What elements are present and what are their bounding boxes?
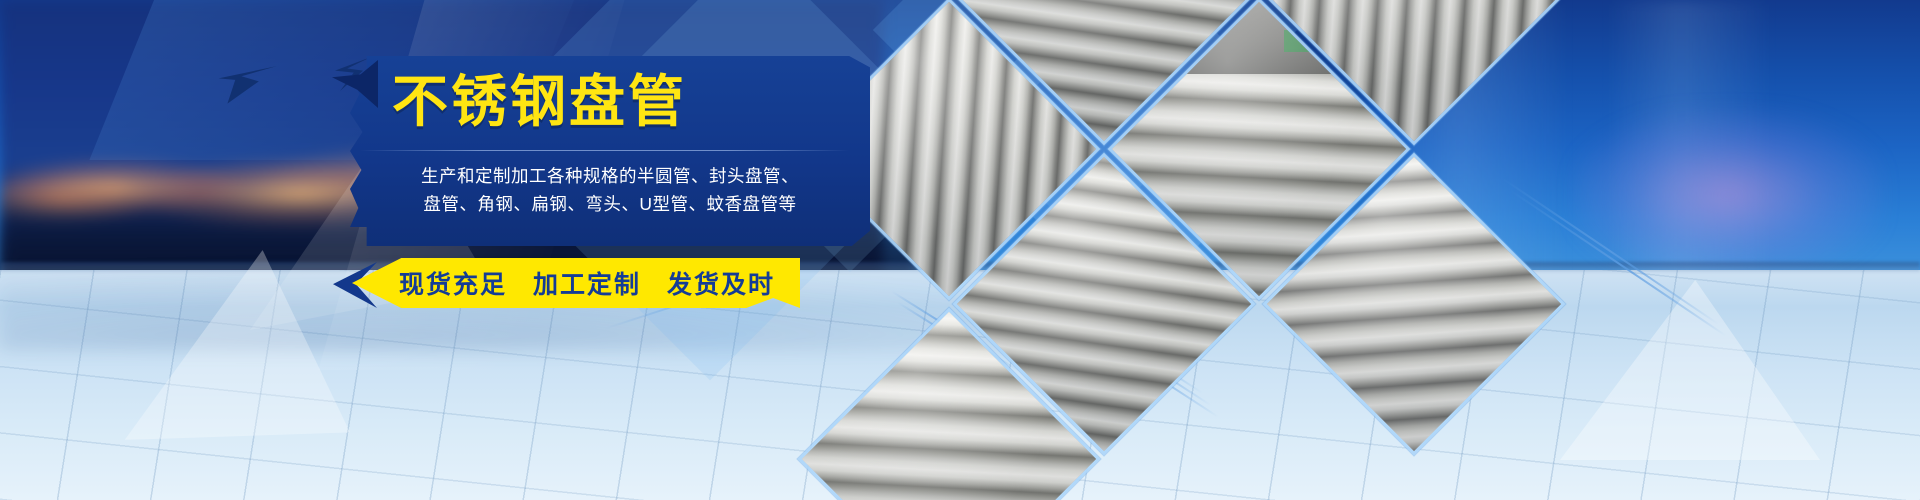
headline-content: 不锈钢盘管 生产和定制加工各种规格的半圆管、封头盘管、 盘管、角钢、扁钢、弯头、… xyxy=(350,56,870,246)
promo-banner: 不锈钢盘管 生产和定制加工各种规格的半圆管、封头盘管、 盘管、角钢、扁钢、弯头、… xyxy=(0,0,1920,500)
pink-light-glow xyxy=(1574,110,1881,280)
highlight-item-2: 加工定制 xyxy=(533,265,641,301)
title-divider xyxy=(360,150,849,151)
highlight-item-1: 现货充足 xyxy=(399,265,507,301)
banner-title: 不锈钢盘管 xyxy=(392,74,870,130)
product-photo-collage xyxy=(820,0,1300,470)
banner-subtitle-line-2: 盘管、角钢、扁钢、弯头、U型管、蚊香盘管等 xyxy=(350,190,870,218)
banner-subtitle-line-1: 生产和定制加工各种规格的半圆管、封头盘管、 xyxy=(350,162,870,190)
highlights-tag: 现货充足 加工定制 发货及时 xyxy=(352,258,800,308)
highlight-item-3: 发货及时 xyxy=(667,265,775,301)
